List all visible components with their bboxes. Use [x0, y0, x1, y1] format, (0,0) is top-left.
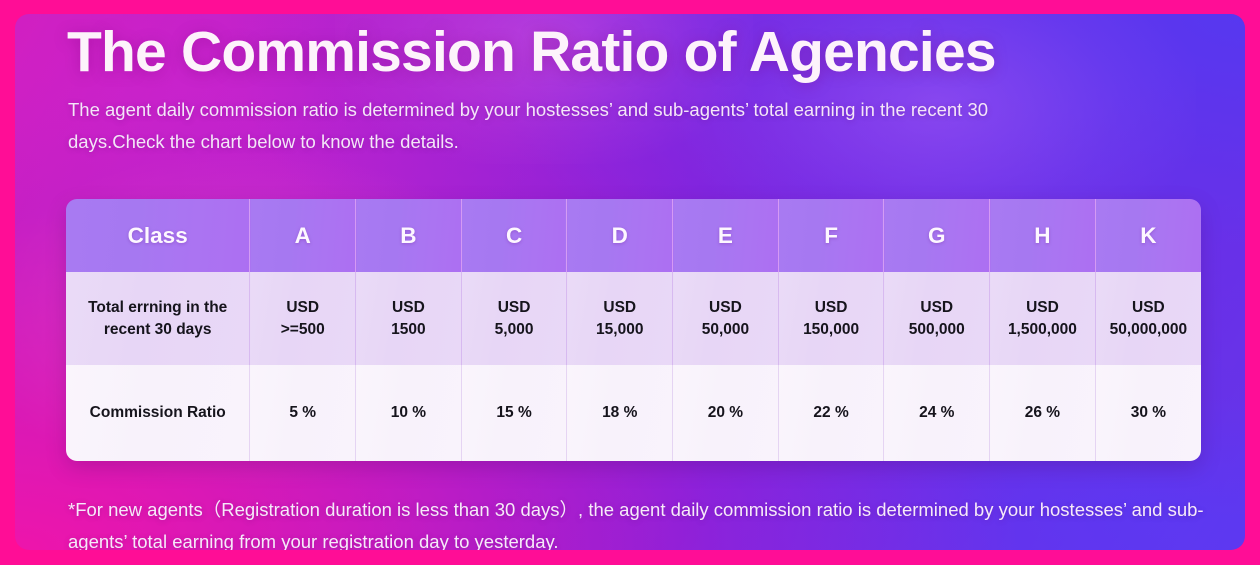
cell-earning-b: USD 1500: [356, 272, 462, 365]
cell-earning-k: USD 50,000,000: [1095, 272, 1201, 365]
pink-frame-border: The Commission Ratio of Agencies The age…: [0, 0, 1260, 565]
row-label-total-earning: Total errning in the recent 30 days: [66, 272, 250, 365]
cell-ratio-d: 18 %: [567, 365, 673, 461]
currency-label: USD: [1097, 297, 1200, 318]
cell-ratio-g: 24 %: [884, 365, 990, 461]
cell-ratio-a: 5 %: [250, 365, 356, 461]
cell-ratio-e: 20 %: [673, 365, 779, 461]
cell-earning-f: USD 150,000: [778, 272, 884, 365]
amount-value: >=500: [251, 319, 354, 340]
page-subtitle: The agent daily commission ratio is dete…: [68, 94, 1088, 158]
currency-label: USD: [568, 297, 671, 318]
amount-value: 1,500,000: [991, 319, 1094, 340]
currency-label: USD: [251, 297, 354, 318]
cell-earning-d: USD 15,000: [567, 272, 673, 365]
column-header-e: E: [673, 199, 779, 272]
currency-label: USD: [885, 297, 988, 318]
cell-earning-a: USD >=500: [250, 272, 356, 365]
panel-content: The Commission Ratio of Agencies The age…: [15, 14, 1245, 550]
commission-ratio-table: Class A B C D E F G H K: [66, 199, 1201, 461]
cell-earning-e: USD 50,000: [673, 272, 779, 365]
column-header-b: B: [356, 199, 462, 272]
table-header: Class A B C D E F G H K: [66, 199, 1201, 272]
table-row-total-earning: Total errning in the recent 30 days USD …: [66, 272, 1201, 365]
amount-value: 50,000,000: [1097, 319, 1200, 340]
column-header-k: K: [1095, 199, 1201, 272]
amount-value: 500,000: [885, 319, 988, 340]
column-header-f: F: [778, 199, 884, 272]
amount-value: 50,000: [674, 319, 777, 340]
currency-label: USD: [780, 297, 883, 318]
amount-value: 150,000: [780, 319, 883, 340]
cell-earning-c: USD 5,000: [461, 272, 567, 365]
currency-label: USD: [357, 297, 460, 318]
amount-value: 1500: [357, 319, 460, 340]
table-row-commission-ratio: Commission Ratio 5 % 10 % 15 % 18 % 20 %…: [66, 365, 1201, 461]
currency-label: USD: [674, 297, 777, 318]
column-header-h: H: [990, 199, 1096, 272]
gradient-panel: The Commission Ratio of Agencies The age…: [15, 14, 1245, 550]
cell-ratio-h: 26 %: [990, 365, 1096, 461]
amount-value: 15,000: [568, 319, 671, 340]
cell-earning-g: USD 500,000: [884, 272, 990, 365]
column-header-class: Class: [66, 199, 250, 272]
cell-ratio-k: 30 %: [1095, 365, 1201, 461]
commission-table: Class A B C D E F G H K: [66, 199, 1201, 461]
column-header-g: G: [884, 199, 990, 272]
table-header-row: Class A B C D E F G H K: [66, 199, 1201, 272]
cell-ratio-b: 10 %: [356, 365, 462, 461]
page-title: The Commission Ratio of Agencies: [67, 22, 996, 84]
cell-ratio-c: 15 %: [461, 365, 567, 461]
row-label-commission-ratio: Commission Ratio: [66, 365, 250, 461]
currency-label: USD: [463, 297, 566, 318]
table-body: Total errning in the recent 30 days USD …: [66, 272, 1201, 461]
column-header-a: A: [250, 199, 356, 272]
amount-value: 5,000: [463, 319, 566, 340]
cell-ratio-f: 22 %: [778, 365, 884, 461]
footnote-text: *For new agents（Registration duration is…: [68, 494, 1218, 550]
column-header-c: C: [461, 199, 567, 272]
cell-earning-h: USD 1,500,000: [990, 272, 1096, 365]
currency-label: USD: [991, 297, 1094, 318]
column-header-d: D: [567, 199, 673, 272]
